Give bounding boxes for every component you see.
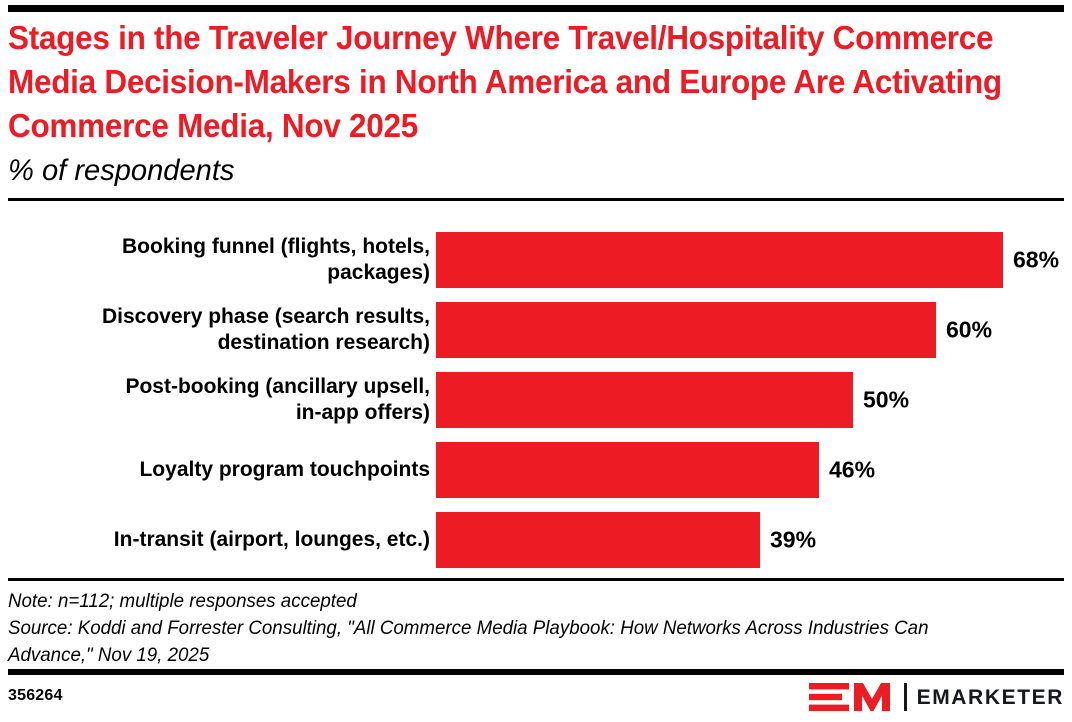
bar-value-label: 60% <box>946 317 992 344</box>
bar-fill <box>436 442 819 498</box>
bar-track: 39% <box>436 512 1072 568</box>
emarketer-logo: EMARKETER <box>809 682 1064 712</box>
bar-track: 68% <box>436 232 1072 288</box>
bar-fill <box>436 372 853 428</box>
chart-title: Stages in the Traveler Journey Where Tra… <box>8 16 1018 148</box>
bar-row: Post-booking (ancillary upsell, in-app o… <box>0 372 1072 428</box>
bar-row: Loyalty program touchpoints 46% <box>0 442 1072 498</box>
bar-fill <box>436 302 936 358</box>
header-divider <box>8 198 1064 201</box>
top-rule-divider <box>8 5 1064 12</box>
source-text: Source: Koddi and Forrester Consulting, … <box>8 615 1016 668</box>
bar-category-label: Post-booking (ancillary upsell, in-app o… <box>10 374 430 426</box>
bar-value-label: 50% <box>863 387 909 414</box>
bar-track: 60% <box>436 302 1072 358</box>
bar-fill <box>436 232 1003 288</box>
bar-fill <box>436 512 760 568</box>
bar-chart-plot: Booking funnel (flights, hotels, package… <box>0 207 1072 575</box>
bar-category-label: Loyalty program touchpoints <box>10 457 430 483</box>
bar-value-label: 68% <box>1013 247 1059 274</box>
bar-category-label: Booking funnel (flights, hotels, package… <box>10 234 430 286</box>
chart-id: 356264 <box>8 687 63 705</box>
brand-wordmark: EMARKETER <box>917 687 1064 708</box>
em-monogram-icon <box>809 682 895 712</box>
note-text: Note: n=112; multiple responses accepted <box>8 588 1016 614</box>
chart-notes: Note: n=112; multiple responses accepted… <box>8 588 1058 668</box>
chart-footer: 356264 EMARKETER <box>8 682 1064 714</box>
note-divider <box>8 578 1064 581</box>
logo-divider <box>904 683 907 711</box>
bar-track: 50% <box>436 372 1072 428</box>
bar-row: Discovery phase (search results, destina… <box>0 302 1072 358</box>
bar-category-label: Discovery phase (search results, destina… <box>10 304 430 356</box>
chart-header: Stages in the Traveler Journey Where Tra… <box>8 16 1066 187</box>
bar-row: In-transit (airport, lounges, etc.) 39% <box>0 512 1072 568</box>
bar-value-label: 39% <box>770 527 816 554</box>
footer-divider <box>8 669 1064 675</box>
bar-category-label: In-transit (airport, lounges, etc.) <box>10 527 430 553</box>
chart-subtitle: % of respondents <box>8 154 1034 188</box>
bar-track: 46% <box>436 442 1072 498</box>
bar-value-label: 46% <box>829 457 875 484</box>
chart-page: Stages in the Traveler Journey Where Tra… <box>0 0 1072 722</box>
bar-row: Booking funnel (flights, hotels, package… <box>0 232 1072 288</box>
